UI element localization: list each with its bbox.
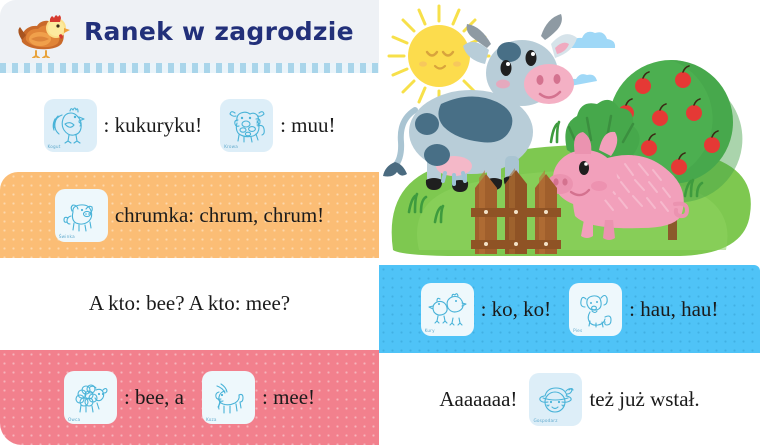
pig-sound-text: chrumka: chrum, chrum! <box>115 203 324 228</box>
tile-label: Koza <box>206 418 217 422</box>
wooden-fence <box>471 168 561 254</box>
goat-sound-text: : mee! <box>262 385 315 410</box>
hen-icon <box>16 6 72 58</box>
dog-sound-text: : hau, hau! <box>629 297 718 322</box>
row-sheep-goat: Owca : bee, a <box>0 350 379 445</box>
row-farmer: Aaaaaaa! <box>379 353 760 445</box>
cow-sound-text: : muu! <box>280 113 335 138</box>
tile-label: Pies <box>573 329 582 333</box>
tile-label: Gospodarz <box>533 419 557 423</box>
header-divider <box>0 63 379 73</box>
right-column: Kury : ko, ko! <box>379 0 760 445</box>
farmer-tail-text: też już wstał. <box>589 387 699 412</box>
goat-icon[interactable]: Koza <box>202 371 255 424</box>
storybook-page: Ranek w zagrodzie <box>0 0 760 445</box>
hens-icon[interactable]: Kury <box>421 283 474 336</box>
row-hens-dog: Kury : ko, ko! <box>379 265 760 353</box>
farmer-shout-text: Aaaaaaa! <box>439 387 517 412</box>
tile-label: Owca <box>68 418 80 422</box>
rooster-sound-text: : kukuryku! <box>104 113 203 138</box>
cow-icon[interactable]: Krowa <box>220 99 273 152</box>
row-rooster-cow: Kogut : kukuryku! <box>0 80 379 170</box>
tile-label: Krowa <box>224 145 238 149</box>
rooster-icon[interactable]: Kogut <box>44 99 97 152</box>
hens-sound-text: : ko, ko! <box>481 297 552 322</box>
sheep-icon[interactable]: Owca <box>64 371 117 424</box>
farmer-icon[interactable]: Gospodarz <box>529 373 582 426</box>
row-pig: Świnka chrumka: chrum, chrum! <box>0 172 379 258</box>
farmyard-illustration <box>379 0 760 265</box>
page-title: Ranek w zagrodzie <box>84 17 354 46</box>
question-text: A kto: bee? A kto: mee? <box>89 291 290 316</box>
left-column: Ranek w zagrodzie <box>0 0 379 445</box>
sheep-sound-text: : bee, a <box>124 385 184 410</box>
row-question: A kto: bee? A kto: mee? <box>0 258 379 348</box>
page-header: Ranek w zagrodzie <box>0 0 379 63</box>
tile-label: Kogut <box>48 145 61 149</box>
dog-icon[interactable]: Pies <box>569 283 622 336</box>
pig-icon[interactable]: Świnka <box>55 189 108 242</box>
tile-label: Świnka <box>59 235 75 239</box>
tile-label: Kury <box>425 329 435 333</box>
